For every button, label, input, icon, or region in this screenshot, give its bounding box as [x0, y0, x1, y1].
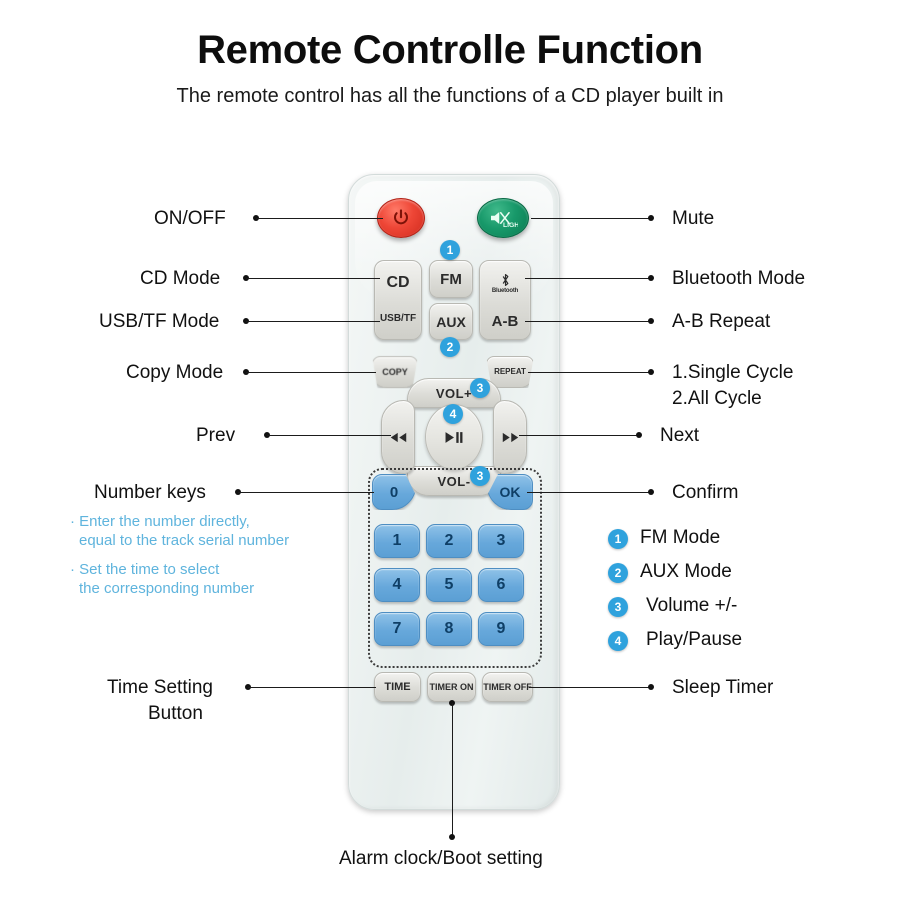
legend-list: 1 FM Mode 2 AUX Mode 3 Volume +/- 4 Play…	[608, 523, 868, 659]
leader-ab-repeat	[525, 321, 650, 322]
label-copy-mode: Copy Mode	[126, 362, 223, 384]
leader-number-keys	[238, 492, 374, 493]
key-6-button[interactable]: 6	[478, 568, 524, 602]
label-on-off: ON/OFF	[154, 208, 226, 230]
badge-3-volume-up: 3	[470, 378, 490, 398]
label-prev: Prev	[196, 425, 235, 447]
key-7-button[interactable]: 7	[374, 612, 420, 646]
note-enter-number-line1: · Enter the number directly,	[70, 513, 289, 532]
key-5-button[interactable]: 5	[426, 568, 472, 602]
legend-item-4: 4 Play/Pause	[608, 625, 868, 659]
leader-time-setting	[248, 687, 376, 688]
leader-alarm	[452, 703, 453, 836]
legend-item-1: 1 FM Mode	[608, 523, 868, 557]
key-3-button[interactable]: 3	[478, 524, 524, 558]
svg-text:LIGHT: LIGHT	[503, 222, 518, 229]
power-icon	[391, 208, 411, 228]
label-cd-mode: CD Mode	[140, 268, 220, 290]
leader-next	[519, 435, 638, 436]
key-1-button[interactable]: 1	[374, 524, 420, 558]
dot-repeat-cycle	[648, 369, 654, 375]
legend-badge-1: 1	[608, 529, 628, 549]
cd-label: CD	[375, 267, 421, 299]
label-mute: Mute	[672, 208, 714, 230]
prev-button[interactable]	[381, 400, 415, 474]
dot-next	[636, 432, 642, 438]
fm-button[interactable]: FM	[429, 260, 473, 298]
legend-badge-2: 2	[608, 563, 628, 583]
time-button[interactable]: TIME	[374, 672, 421, 702]
label-sleep-timer: Sleep Timer	[672, 677, 773, 699]
mute-light-icon: LIGHT	[488, 207, 518, 229]
label-number-keys: Number keys	[94, 482, 206, 504]
leader-mute	[531, 218, 650, 219]
timer-off-button[interactable]: TIMER OFF	[482, 672, 533, 702]
ab-label: A-B	[480, 307, 530, 335]
leader-cd-mode	[246, 278, 380, 279]
note-set-time: · Set the time to select the correspondi…	[70, 561, 254, 599]
label-usbtf-mode: USB/TF Mode	[99, 311, 219, 333]
badge-3-volume-down: 3	[470, 466, 490, 486]
label-repeat-cycle-line2: 2.All Cycle	[672, 388, 762, 410]
leader-sleep-timer	[529, 687, 650, 688]
note-set-time-line1: · Set the time to select	[70, 561, 254, 580]
leader-bluetooth-mode	[525, 278, 650, 279]
leader-prev	[267, 435, 391, 436]
leader-confirm	[527, 492, 650, 493]
dot-ab-repeat	[648, 318, 654, 324]
dot-confirm	[648, 489, 654, 495]
key-8-button[interactable]: 8	[426, 612, 472, 646]
power-button[interactable]	[377, 198, 425, 238]
label-confirm: Confirm	[672, 482, 739, 504]
next-track-icon	[502, 432, 519, 443]
legend-label-4: Play/Pause	[646, 629, 742, 651]
legend-item-2: 2 AUX Mode	[608, 557, 868, 591]
note-set-time-line2: the corresponding number	[79, 580, 254, 599]
label-bluetooth-mode: Bluetooth Mode	[672, 268, 805, 290]
badge-4-play-pause: 4	[443, 404, 463, 424]
legend-badge-3: 3	[608, 597, 628, 617]
label-time-setting-line1: Time Setting	[107, 677, 213, 699]
bluetooth-label: Bluetooth	[492, 288, 518, 294]
bluetooth-ab-button[interactable]: Bluetooth A-B	[479, 260, 531, 340]
bluetooth-icon	[500, 273, 511, 287]
key-2-button[interactable]: 2	[426, 524, 472, 558]
leader-on-off	[256, 218, 383, 219]
usbtf-label: USB/TF	[375, 305, 421, 333]
legend-label-3: Volume +/-	[646, 595, 737, 617]
leader-usbtf-mode	[246, 321, 380, 322]
leader-repeat-cycle	[528, 372, 650, 373]
label-alarm-boot: Alarm clock/Boot setting	[339, 848, 543, 870]
dot-bluetooth-mode	[648, 275, 654, 281]
page-subtitle: The remote control has all the functions…	[0, 85, 900, 108]
key-9-button[interactable]: 9	[478, 612, 524, 646]
legend-label-2: AUX Mode	[640, 561, 732, 583]
label-ab-repeat: A-B Repeat	[672, 311, 770, 333]
badge-1-on-remote: 1	[440, 240, 460, 260]
dot-alarm-bottom	[449, 834, 455, 840]
previous-track-icon	[390, 432, 407, 443]
key-4-button[interactable]: 4	[374, 568, 420, 602]
aux-button[interactable]: AUX	[429, 303, 473, 340]
dot-sleep-timer	[648, 684, 654, 690]
leader-copy-mode	[246, 372, 376, 373]
timer-on-button[interactable]: TIMER ON	[427, 672, 476, 702]
page-title: Remote Controlle Function	[0, 28, 900, 73]
label-repeat-cycle-line1: 1.Single Cycle	[672, 362, 793, 384]
legend-item-3: 3 Volume +/-	[608, 591, 868, 625]
label-time-setting-line2: Button	[148, 703, 203, 725]
bluetooth-section: Bluetooth	[480, 266, 530, 300]
mute-button[interactable]: LIGHT	[477, 198, 529, 238]
diagram-canvas: Remote Controlle Function The remote con…	[0, 0, 900, 900]
legend-label-1: FM Mode	[640, 527, 720, 549]
cd-usbtf-button[interactable]: CD USB/TF	[374, 260, 422, 340]
dot-mute	[648, 215, 654, 221]
note-enter-number-line2: equal to the track serial number	[79, 532, 289, 551]
badge-2-on-remote: 2	[440, 337, 460, 357]
next-button[interactable]	[493, 400, 527, 474]
play-pause-icon	[444, 431, 464, 444]
label-next: Next	[660, 425, 699, 447]
note-enter-number: · Enter the number directly, equal to th…	[70, 513, 289, 551]
legend-badge-4: 4	[608, 631, 628, 651]
